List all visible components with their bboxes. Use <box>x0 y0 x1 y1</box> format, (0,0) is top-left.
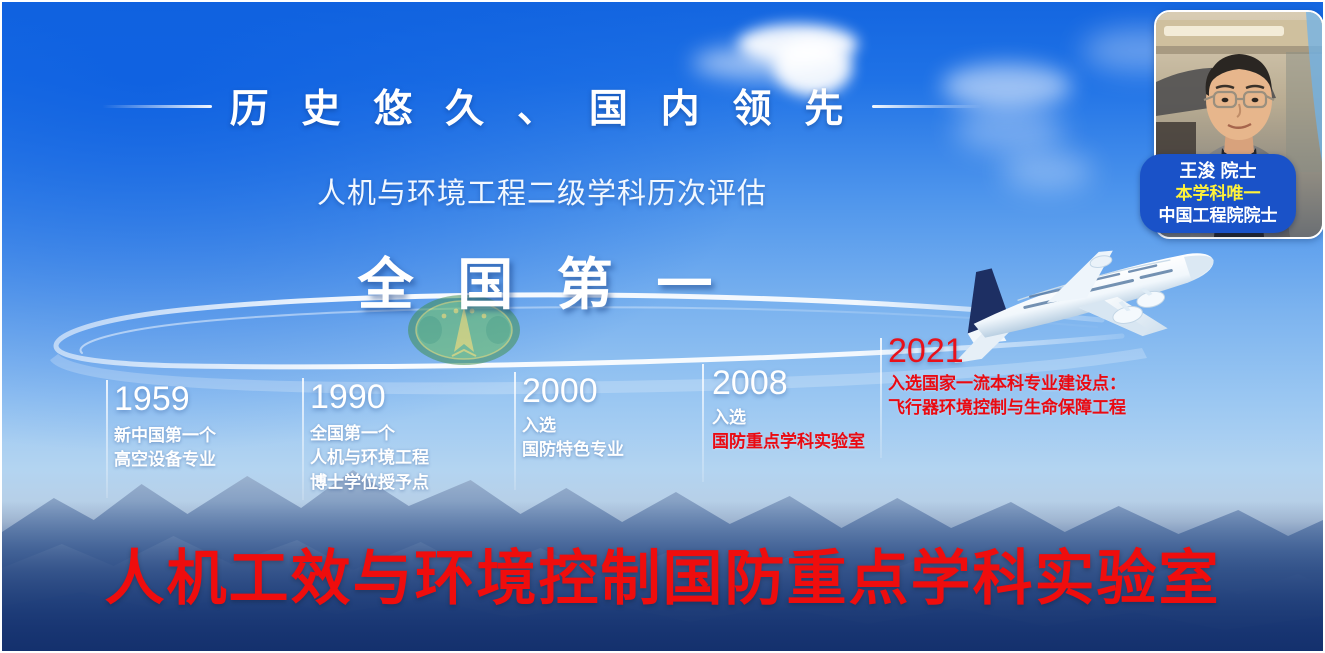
subtitle: 人机与环境工程二级学科历次评估 <box>2 170 1082 212</box>
poster-root: 历 史 悠 久 、 国 内 领 先 人机与环境工程二级学科历次评估 全 国 第 … <box>0 0 1325 653</box>
timeline-year: 1959 <box>114 382 216 418</box>
timeline-desc-line: 全国第一个 <box>310 422 429 447</box>
timeline-desc-line: 国防特色专业 <box>522 438 624 463</box>
badge-title: 中国工程院院士 <box>1159 205 1278 227</box>
lab-name-banner: 人机工效与环境控制国防重点学科实验室 <box>2 530 1323 617</box>
timeline-divider <box>302 378 304 500</box>
badge-name: 王浚 院士 <box>1179 160 1256 183</box>
rule-left <box>102 105 212 108</box>
cloud-icon <box>692 46 842 80</box>
timeline-desc-line: 飞行器环境控制与生命保障工程 <box>888 396 1126 421</box>
timeline-desc-line: 博士学位授予点 <box>310 471 429 496</box>
timeline-divider <box>106 380 108 498</box>
timeline-desc-line: 人机与环境工程 <box>310 446 429 471</box>
timeline: 1959 新中国第一个 高空设备专业 1990 全国第一个 人机与环境工程 博士… <box>2 332 1323 512</box>
timeline-year: 2000 <box>522 374 624 410</box>
page-title: 历 史 悠 久 、 国 内 领 先 <box>230 78 855 134</box>
timeline-desc-line: 入选 <box>712 406 865 431</box>
badge-highlight: 本学科唯一 <box>1176 183 1261 205</box>
timeline-divider <box>880 338 882 458</box>
timeline-year: 1990 <box>310 380 429 416</box>
timeline-desc-line: 入选国家一流本科专业建设点： <box>888 372 1126 397</box>
timeline-item-2021: 2021 入选国家一流本科专业建设点： 飞行器环境控制与生命保障工程 <box>888 334 1126 421</box>
rule-right <box>872 105 982 108</box>
headline-row: 历 史 悠 久 、 国 内 领 先 <box>2 78 1082 134</box>
timeline-divider <box>702 364 704 482</box>
timeline-desc-line: 新中国第一个 <box>114 424 216 449</box>
timeline-desc-line: 高空设备专业 <box>114 448 216 473</box>
timeline-year: 2021 <box>888 334 1126 370</box>
timeline-divider <box>514 372 516 490</box>
rank-highlight: 全 国 第 一 <box>2 240 1082 321</box>
timeline-year: 2008 <box>712 366 865 402</box>
timeline-desc-line: 国防重点学科实验室 <box>712 430 865 455</box>
timeline-desc-line: 入选 <box>522 414 624 439</box>
timeline-item-2008: 2008 入选 国防重点学科实验室 <box>712 366 865 455</box>
timeline-item-1959: 1959 新中国第一个 高空设备专业 <box>114 382 216 473</box>
timeline-item-2000: 2000 入选 国防特色专业 <box>522 374 624 463</box>
academician-badge: 王浚 院士 本学科唯一 中国工程院院士 <box>1140 154 1296 233</box>
timeline-item-1990: 1990 全国第一个 人机与环境工程 博士学位授予点 <box>310 380 429 496</box>
